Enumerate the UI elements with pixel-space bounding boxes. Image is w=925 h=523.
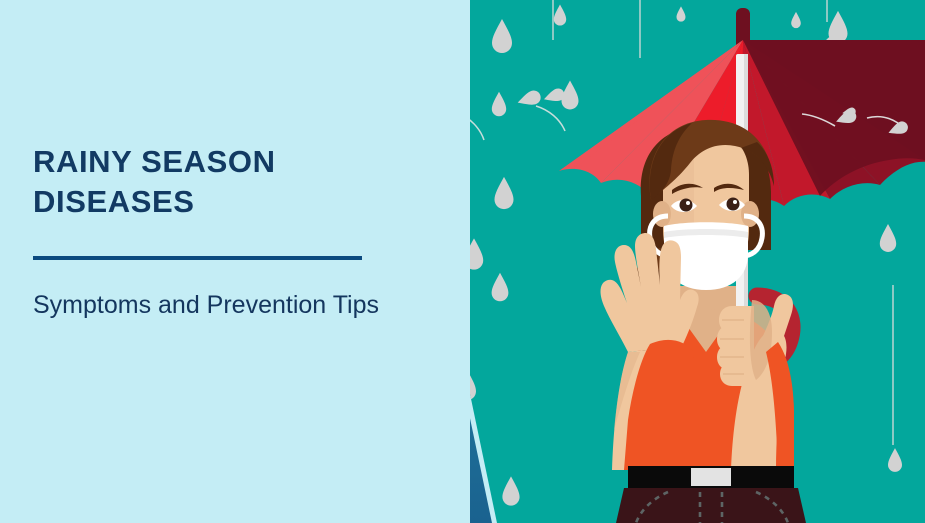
pupil-left (680, 199, 693, 212)
eye-glint-left (686, 201, 690, 205)
belt-buckle (691, 468, 731, 486)
page-subtitle: Symptoms and Prevention Tips (33, 289, 393, 323)
title-divider (33, 256, 362, 260)
pupil-right (727, 198, 740, 211)
text-block: RAINY SEASON DISEASES Symptoms and Preve… (33, 142, 403, 323)
eye-glint-right (733, 200, 737, 204)
banner-root: RAINY SEASON DISEASES Symptoms and Preve… (0, 0, 925, 523)
page-title: RAINY SEASON DISEASES (33, 142, 403, 221)
hand-gripping-pole (717, 306, 754, 386)
text-panel: RAINY SEASON DISEASES Symptoms and Preve… (0, 0, 470, 523)
jeans (616, 488, 806, 523)
